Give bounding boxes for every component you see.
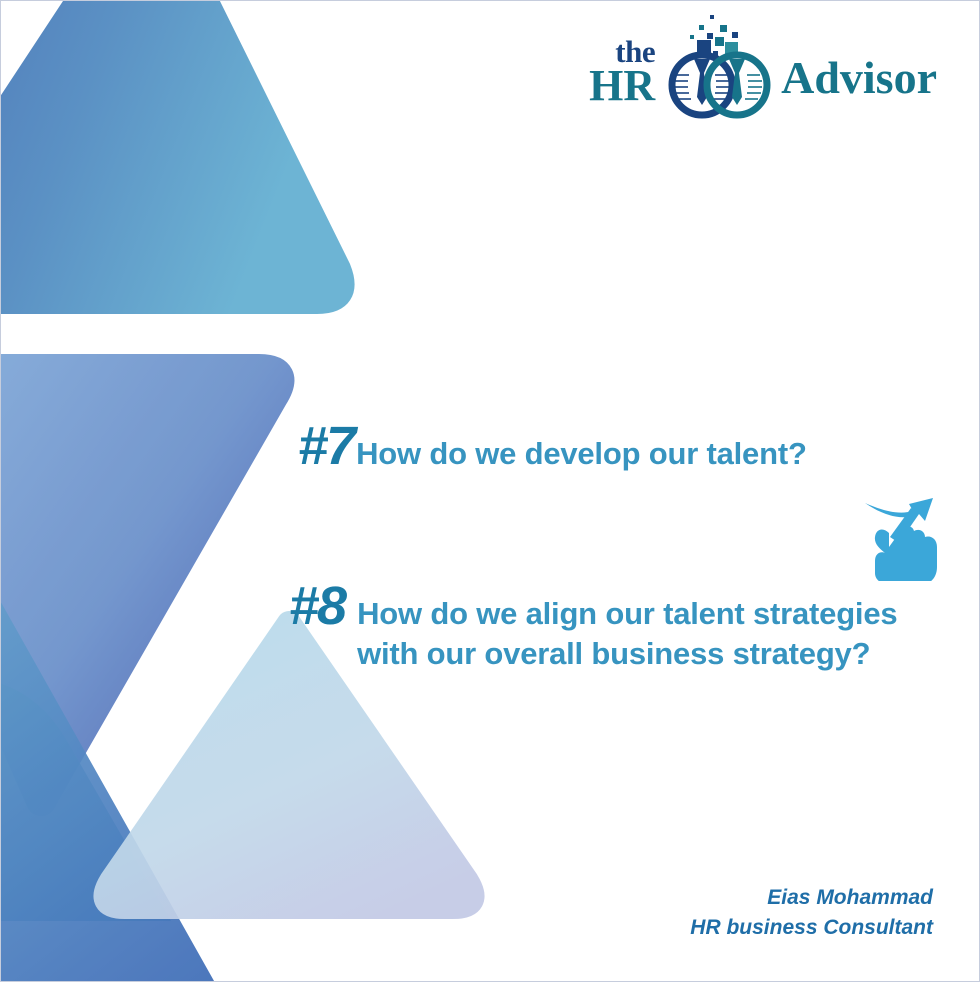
question-text-8: How do we align our talent strategieswit…	[357, 594, 897, 673]
bottom-left-triangle	[1, 611, 216, 982]
brand-logo: the HR	[589, 13, 937, 121]
logo-wordmark-left: the HR	[589, 38, 655, 107]
top-left-triangle	[1, 1, 342, 301]
question-block-8: #8 How do we align our talent strategies…	[289, 579, 897, 673]
question-block-7: #7 How do we develop our talent?	[298, 419, 807, 473]
logo-advisor-text: Advisor	[781, 51, 937, 104]
logo-right-circle-icon	[707, 55, 767, 115]
question-number-7: #7	[298, 419, 354, 473]
question-text-7: How do we develop our talent?	[356, 436, 807, 472]
signature-block: Eias Mohammad HR business Consultant	[690, 883, 933, 943]
hand-pointing-up-right-icon	[859, 481, 959, 581]
teal-accent-shape	[1, 677, 171, 921]
signature-title: HR business Consultant	[690, 913, 933, 943]
logo-left-circle-icon	[672, 55, 732, 115]
question-text-8-line2: with our overall business strategy?	[357, 636, 870, 671]
signature-name: Eias Mohammad	[690, 883, 933, 913]
poster-canvas: the HR	[0, 0, 980, 982]
logo-hr-text: HR	[589, 66, 655, 106]
decorative-shapes-layer	[1, 1, 980, 982]
question-text-8-line1: How do we align our talent strategies	[357, 596, 897, 631]
interlocking-circles-neckties-logo-icon	[663, 13, 775, 121]
logo-pixel-squares-icon	[690, 15, 738, 56]
question-number-8: #8	[289, 579, 345, 633]
mid-left-triangle	[1, 369, 279, 801]
